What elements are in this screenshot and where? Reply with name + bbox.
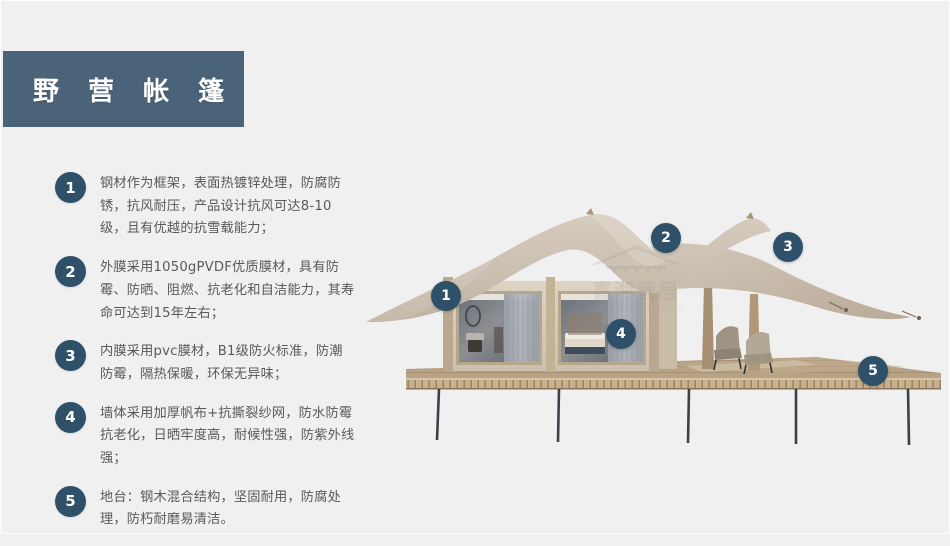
feature-badge-5: 5: [55, 486, 86, 517]
image-marker-1: 1: [431, 281, 461, 311]
page-title: 野 营 帐 篷: [3, 71, 234, 108]
feature-badge-2: 2: [55, 256, 86, 287]
deck-legs: [437, 389, 909, 445]
feature-badge-1: 1: [55, 172, 86, 203]
feature-badge-3: 3: [55, 340, 86, 371]
image-marker-5: 5: [858, 356, 888, 386]
title-box: 野 营 帐 篷: [3, 51, 244, 127]
deck-fascia-shadow: [406, 388, 941, 390]
slide-root: 野 营 帐 篷 1 钢材作为框架，表面热镀锌处理，防腐防锈，抗风耐压，产品设计抗…: [0, 0, 950, 534]
canopy-peak-left: [586, 208, 594, 215]
vanity: [468, 340, 482, 352]
tent-illustration: 喜湘营居 HAPPY CAMPING HOUSE 1 2 3 4 5: [346, 151, 950, 451]
list-item: 1 钢材作为框架，表面热镀锌处理，防腐防锈，抗风耐压，产品设计抗风可达8-10级…: [55, 171, 355, 241]
list-item: 3 内膜采用pvc膜材，B1级防火标准，防潮防霉，隔热保暖，环保无异味；: [55, 339, 355, 386]
feature-list: 1 钢材作为框架，表面热镀锌处理，防腐防锈，抗风耐压，产品设计抗风可达8-10级…: [55, 171, 355, 546]
list-item: 2 外膜采用1050gPVDF优质膜材，具有防霉、防晒、阻燃、抗老化和自洁能力，…: [55, 255, 355, 325]
canopy-peak-right: [746, 212, 754, 219]
image-marker-4: 4: [606, 319, 636, 349]
list-item: 4 墙体采用加厚帆布+抗撕裂纱网，防水防霉抗老化，日晒牢度高，耐候性强，防紫外线…: [55, 401, 355, 471]
list-item: 5 地台：钢木混合结构，坚固耐用，防腐处理，防朽耐磨易清洁。: [55, 485, 355, 532]
feature-text-1: 钢材作为框架，表面热镀锌处理，防腐防锈，抗风耐压，产品设计抗风可达8-10级，且…: [100, 171, 355, 241]
image-marker-2: 2: [651, 223, 681, 253]
feature-text-5: 地台：钢木混合结构，坚固耐用，防腐处理，防朽耐磨易清洁。: [100, 485, 355, 532]
feature-text-3: 内膜采用pvc膜材，B1级防火标准，防潮防霉，隔热保暖，环保无异味；: [100, 339, 355, 386]
feature-badge-4: 4: [55, 402, 86, 433]
image-marker-3: 3: [773, 232, 803, 262]
feature-text-2: 外膜采用1050gPVDF优质膜材，具有防霉、防晒、阻燃、抗老化和自洁能力，其寿…: [100, 255, 355, 325]
sink: [466, 333, 484, 340]
curtain-left: [504, 294, 539, 362]
feature-text-4: 墙体采用加厚帆布+抗撕裂纱网，防水防霉抗老化，日晒牢度高，耐候性强，防紫外线强；: [100, 401, 355, 471]
